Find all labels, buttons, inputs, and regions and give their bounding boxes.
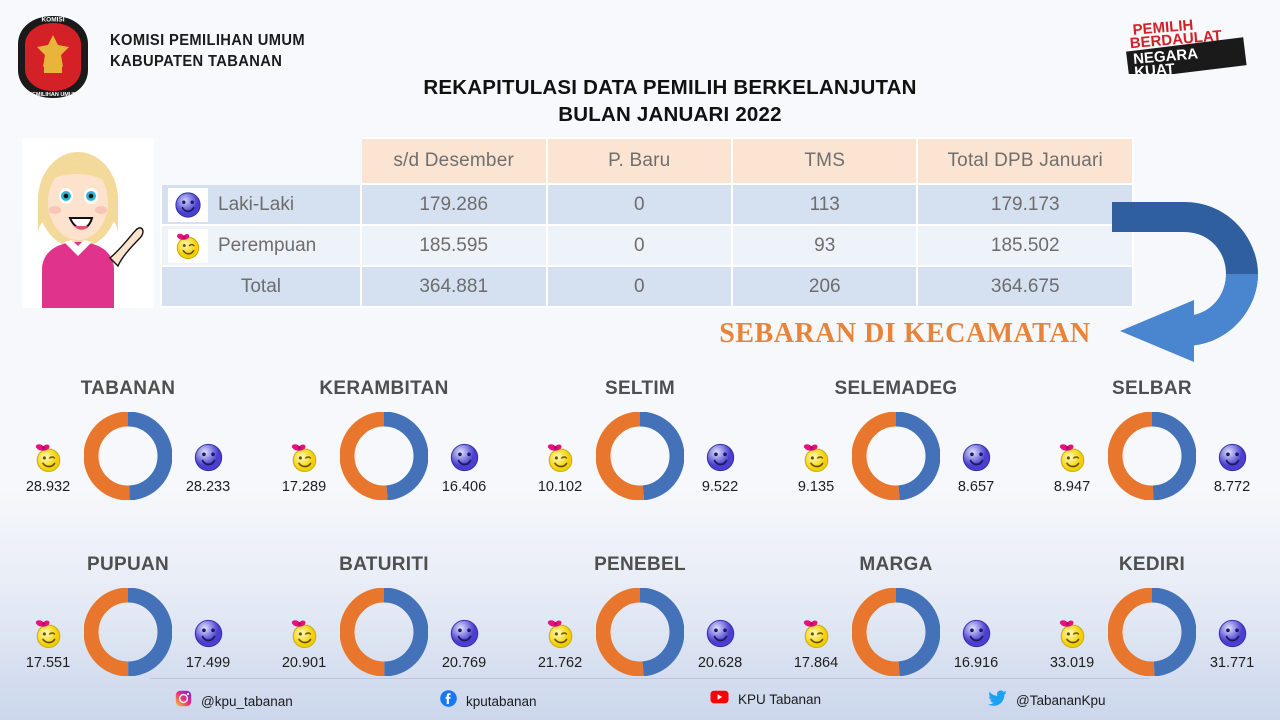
legend-perempuan: 33.019 <box>1030 616 1114 671</box>
curved-arrow-icon <box>1098 196 1268 366</box>
legend-laki-laki: 20.769 <box>422 616 506 671</box>
svg-text:PEMILIHAN UMUM: PEMILIHAN UMUM <box>29 92 78 98</box>
donut-chart <box>852 412 940 505</box>
value-perempuan: 17.289 <box>262 479 346 495</box>
value-laki-laki: 8.657 <box>934 479 1018 495</box>
female-face-icon <box>774 440 858 474</box>
table-col-sd-desember: s/d Desember <box>361 138 547 184</box>
kecamatan-chart-grid: TABANAN 28.932 28.233 KERAMBITAN <box>0 372 1280 720</box>
legend-perempuan: 20.901 <box>262 616 346 671</box>
female-face-icon <box>168 229 208 263</box>
table-col-tms: TMS <box>732 138 917 184</box>
value-laki-laki: 17.499 <box>166 655 250 671</box>
page-title: REKAPITULASI DATA PEMILIH BERKELANJUTAN … <box>300 74 1040 128</box>
pemilih-berdaulat-logo: PEMILIH BERDAULAT NEGARA KUAT <box>1126 12 1254 74</box>
table-cell-tms: 93 <box>732 225 917 266</box>
page-header: KOMISI PEMILIHAN UMUM KOMISI PEMILIHAN U… <box>0 0 1280 120</box>
male-face-icon <box>166 440 250 474</box>
social-handle: @TabananKpu <box>1016 693 1106 708</box>
table-row-label-perempuan: Perempuan <box>161 225 361 266</box>
table-row-label-total: Total <box>161 266 361 307</box>
table-col-corner <box>161 138 361 184</box>
youtube-icon <box>710 690 729 709</box>
svg-text:KOMISI: KOMISI <box>41 17 64 24</box>
female-face-icon <box>1030 440 1114 474</box>
female-face-icon <box>262 440 346 474</box>
table-cell-tms: 113 <box>732 184 917 225</box>
male-face-icon <box>678 440 762 474</box>
instagram-icon <box>175 690 192 712</box>
legend-perempuan: 8.947 <box>1030 440 1114 495</box>
legend-laki-laki: 8.657 <box>934 440 1018 495</box>
table-col-p-baru: P. Baru <box>547 138 732 184</box>
value-perempuan: 10.102 <box>518 479 602 495</box>
social-handle: @kpu_tabanan <box>201 694 293 709</box>
male-face-icon <box>678 616 762 650</box>
value-perempuan: 17.551 <box>6 655 90 671</box>
table-col-total-dpb: Total DPB Januari <box>917 138 1133 184</box>
male-face-icon <box>1190 440 1274 474</box>
legend-perempuan: 9.135 <box>774 440 858 495</box>
legend-perempuan: 17.289 <box>262 440 346 495</box>
legend-perempuan: 10.102 <box>518 440 602 495</box>
legend-laki-laki: 16.406 <box>422 440 506 495</box>
chart-card-kerambitan: KERAMBITAN 17.289 16.406 <box>256 372 512 548</box>
female-face-icon <box>262 616 346 650</box>
social-youtube[interactable]: KPU Tabanan <box>710 690 821 709</box>
donut-chart <box>340 412 428 505</box>
donut-chart <box>84 412 172 505</box>
male-face-icon <box>422 440 506 474</box>
kpu-logo: KOMISI PEMILIHAN UMUM <box>14 14 92 100</box>
social-instagram[interactable]: @kpu_tabanan <box>175 690 293 712</box>
value-laki-laki: 20.628 <box>678 655 762 671</box>
title-line-1: REKAPITULASI DATA PEMILIH BERKELANJUTAN <box>300 74 1040 101</box>
org-line-2: KABUPATEN TABANAN <box>110 51 305 72</box>
female-face-icon <box>6 440 90 474</box>
value-perempuan: 33.019 <box>1030 655 1114 671</box>
donut-chart <box>852 588 940 681</box>
table-cell-p-baru: 0 <box>547 266 732 307</box>
chart-card-selbar: SELBAR 8.947 8.772 <box>1024 372 1280 548</box>
social-handle: KPU Tabanan <box>738 692 821 707</box>
facebook-icon <box>440 690 457 712</box>
chart-title: KEDIRI <box>1024 554 1280 576</box>
donut-chart <box>1108 588 1196 681</box>
table-header-row: s/d Desember P. Baru TMS Total DPB Janua… <box>161 138 1133 184</box>
value-perempuan: 21.762 <box>518 655 602 671</box>
donut-chart <box>84 588 172 681</box>
male-face-icon <box>934 440 1018 474</box>
legend-laki-laki: 16.916 <box>934 616 1018 671</box>
table-row-label-laki-laki: Laki-Laki <box>161 184 361 225</box>
table-cell-sd-desember: 364.881 <box>361 266 547 307</box>
value-perempuan: 17.864 <box>774 655 858 671</box>
legend-laki-laki: 17.499 <box>166 616 250 671</box>
legend-perempuan: 28.932 <box>6 440 90 495</box>
female-face-icon <box>1030 616 1114 650</box>
chart-title: SELEMADEG <box>768 378 1024 400</box>
mascot-illustration <box>22 138 154 308</box>
table-cell-text: Perempuan <box>218 235 316 256</box>
male-face-icon <box>934 616 1018 650</box>
chart-title: PENEBEL <box>512 554 768 576</box>
table-cell-tms: 206 <box>732 266 917 307</box>
value-perempuan: 20.901 <box>262 655 346 671</box>
footer-divider <box>150 678 1150 679</box>
legend-perempuan: 21.762 <box>518 616 602 671</box>
legend-perempuan: 17.864 <box>774 616 858 671</box>
table-row: Laki-Laki 179.286 0 113 179.173 <box>161 184 1133 225</box>
section-subheading: SEBARAN DI KECAMATAN <box>705 318 1105 350</box>
chart-card-tabanan: TABANAN 28.932 28.233 <box>0 372 256 548</box>
value-perempuan: 8.947 <box>1030 479 1114 495</box>
legend-laki-laki: 8.772 <box>1190 440 1274 495</box>
value-laki-laki: 8.772 <box>1190 479 1274 495</box>
twitter-icon <box>988 690 1007 711</box>
table-cell-sd-desember: 179.286 <box>361 184 547 225</box>
donut-chart <box>596 588 684 681</box>
male-face-icon <box>166 616 250 650</box>
legend-laki-laki: 31.771 <box>1190 616 1274 671</box>
value-perempuan: 28.932 <box>6 479 90 495</box>
legend-laki-laki: 9.522 <box>678 440 762 495</box>
table-cell-text: Laki-Laki <box>218 194 294 215</box>
value-laki-laki: 16.406 <box>422 479 506 495</box>
donut-chart <box>340 588 428 681</box>
donut-chart <box>596 412 684 505</box>
chart-card-seltim: SELTIM 10.102 9.522 <box>512 372 768 548</box>
title-line-2: BULAN JANUARI 2022 <box>300 101 1040 128</box>
chart-title: MARGA <box>768 554 1024 576</box>
page-footer: @kpu_tabanan kputabanan KPU Tabanan @Tab… <box>0 678 1280 720</box>
org-line-1: KOMISI PEMILIHAN UMUM <box>110 30 305 51</box>
chart-card-selemadeg: SELEMADEG 9.135 8.657 <box>768 372 1024 548</box>
chart-row-1: TABANAN 28.932 28.233 KERAMBITAN <box>0 372 1280 548</box>
legend-laki-laki: 28.233 <box>166 440 250 495</box>
table-cell-p-baru: 0 <box>547 184 732 225</box>
female-face-icon <box>518 616 602 650</box>
brand-text-kuat: KUAT <box>1134 60 1176 74</box>
social-facebook[interactable]: kputabanan <box>440 690 537 712</box>
value-laki-laki: 9.522 <box>678 479 762 495</box>
social-handle: kputabanan <box>466 694 537 709</box>
recap-table: s/d Desember P. Baru TMS Total DPB Janua… <box>160 137 1134 308</box>
male-face-icon <box>168 188 208 222</box>
value-laki-laki: 31.771 <box>1190 655 1274 671</box>
chart-title: TABANAN <box>0 378 256 400</box>
table-cell-sd-desember: 185.595 <box>361 225 547 266</box>
table-cell-p-baru: 0 <box>547 225 732 266</box>
female-face-icon <box>518 440 602 474</box>
organization-name: KOMISI PEMILIHAN UMUM KABUPATEN TABANAN <box>110 30 322 72</box>
value-laki-laki: 20.769 <box>422 655 506 671</box>
chart-title: BATURITI <box>256 554 512 576</box>
female-face-icon <box>6 616 90 650</box>
male-face-icon <box>422 616 506 650</box>
table-row: Total 364.881 0 206 364.675 <box>161 266 1133 307</box>
value-perempuan: 9.135 <box>774 479 858 495</box>
value-laki-laki: 16.916 <box>934 655 1018 671</box>
chart-title: PUPUAN <box>0 554 256 576</box>
donut-chart <box>1108 412 1196 505</box>
social-twitter[interactable]: @TabananKpu <box>988 690 1106 711</box>
legend-perempuan: 17.551 <box>6 616 90 671</box>
chart-title: SELTIM <box>512 378 768 400</box>
chart-title: SELBAR <box>1024 378 1280 400</box>
table-row: Perempuan 185.595 0 93 185.502 <box>161 225 1133 266</box>
chart-title: KERAMBITAN <box>256 378 512 400</box>
value-laki-laki: 28.233 <box>166 479 250 495</box>
male-face-icon <box>1190 616 1274 650</box>
legend-laki-laki: 20.628 <box>678 616 762 671</box>
female-face-icon <box>774 616 858 650</box>
